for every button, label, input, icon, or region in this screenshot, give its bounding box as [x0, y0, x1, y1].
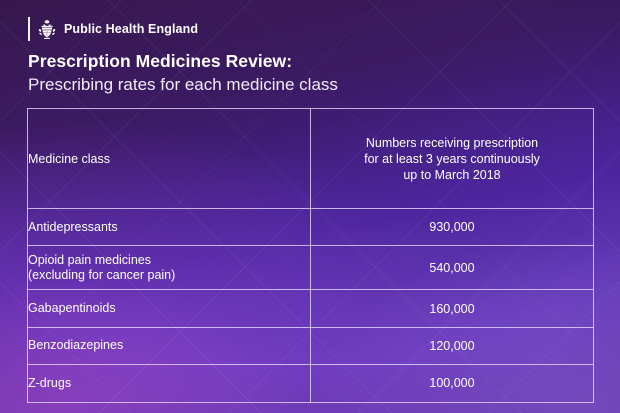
- column-header-numbers: Numbers receiving prescription for at le…: [311, 109, 594, 209]
- cell-medicine-class: Gabapentinoids: [28, 290, 311, 327]
- cell-number: 930,000: [311, 209, 594, 246]
- organisation-name: Public Health England: [64, 22, 198, 36]
- prescribing-rates-table-wrapper: Medicine class Numbers receiving prescri…: [27, 108, 593, 395]
- table-row: Antidepressants 930,000: [28, 209, 594, 246]
- phe-logo: Public Health England: [28, 16, 198, 42]
- medicine-class-label: Antidepressants: [28, 220, 310, 235]
- cell-medicine-class: Z-drugs: [28, 365, 311, 402]
- logo-divider-bar: [28, 17, 30, 41]
- medicine-class-label: Z-drugs: [28, 376, 310, 391]
- cell-number: 100,000: [311, 365, 594, 402]
- table-row: Opioid pain medicines (excluding for can…: [28, 246, 594, 290]
- table-header-row: Medicine class Numbers receiving prescri…: [28, 109, 594, 209]
- cell-number: 160,000: [311, 290, 594, 327]
- cell-number: 540,000: [311, 246, 594, 290]
- cell-medicine-class: Benzodiazepines: [28, 327, 311, 364]
- table-row: Benzodiazepines 120,000: [28, 327, 594, 364]
- column-header-line-2: for at least 3 years continuously: [311, 151, 593, 167]
- page-subtitle: Prescribing rates for each medicine clas…: [28, 74, 338, 96]
- medicine-class-label: Benzodiazepines: [28, 338, 310, 353]
- cell-number: 120,000: [311, 327, 594, 364]
- page-title: Prescription Medicines Review:: [28, 50, 338, 72]
- column-header-line-1: Numbers receiving prescription: [311, 135, 593, 151]
- title-block: Prescription Medicines Review: Prescribi…: [28, 50, 338, 96]
- cell-medicine-class: Opioid pain medicines (excluding for can…: [28, 246, 311, 290]
- table-row: Gabapentinoids 160,000: [28, 290, 594, 327]
- medicine-class-label: Opioid pain medicines: [28, 253, 310, 268]
- medicine-class-qualifier: (excluding for cancer pain): [28, 268, 310, 283]
- infographic-canvas: Public Health England Prescription Medic…: [0, 0, 620, 413]
- column-header-medicine-class: Medicine class: [28, 109, 311, 209]
- table-row: Z-drugs 100,000: [28, 365, 594, 402]
- prescribing-rates-table: Medicine class Numbers receiving prescri…: [27, 108, 594, 403]
- cell-medicine-class: Antidepressants: [28, 209, 311, 246]
- medicine-class-label: Gabapentinoids: [28, 301, 310, 316]
- royal-crest-icon: [37, 19, 57, 40]
- column-header-line-3: up to March 2018: [311, 167, 593, 183]
